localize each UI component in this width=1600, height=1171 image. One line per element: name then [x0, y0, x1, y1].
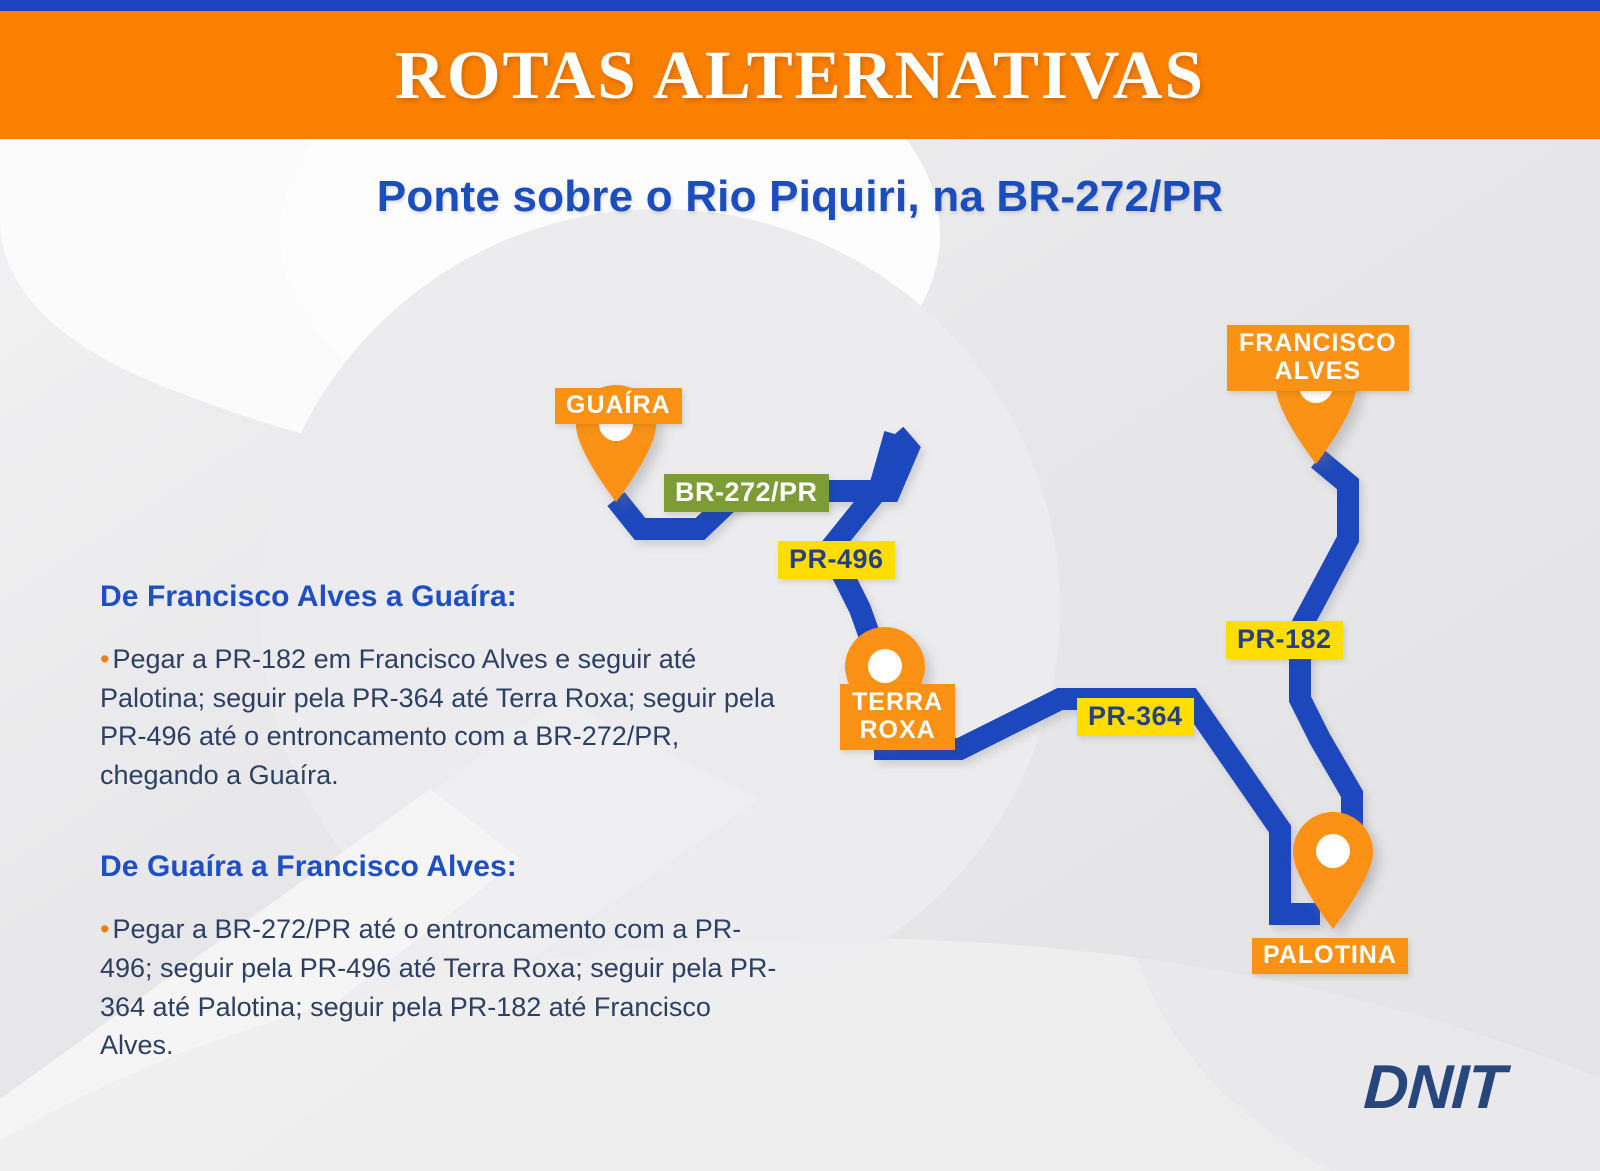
page-subtitle: Ponte sobre o Rio Piquiri, na BR-272/PR: [0, 172, 1600, 222]
section-body-text: Pegar a PR-182 em Francisco Alves e segu…: [100, 644, 775, 790]
section-heading-francisco-to-guaira: De Francisco Alves a Guaíra:: [100, 580, 790, 614]
city-label-line-2: ALVES: [1239, 357, 1397, 385]
section-body-text: Pegar a BR-272/PR até o entroncamento co…: [100, 914, 776, 1060]
routes-text-column: De Francisco Alves a Guaíra: •Pegar a PR…: [100, 580, 790, 1065]
city-label-francisco-alves: FRANCISCO ALVES: [1227, 325, 1409, 391]
city-label-line-2: ROXA: [852, 716, 943, 744]
city-label-line-1: TERRA: [852, 688, 943, 716]
bullet-icon: •: [100, 914, 109, 944]
page-title: ROTAS ALTERNATIVAS: [0, 11, 1600, 139]
section-heading-guaira-to-francisco: De Guaíra a Francisco Alves:: [100, 850, 790, 884]
dnit-logo: DNIT: [1362, 1052, 1506, 1123]
road-label-pr-364: PR-364: [1077, 698, 1194, 736]
bullet-icon: •: [100, 644, 109, 674]
city-label-guaira: GUAÍRA: [555, 388, 682, 424]
section-body-guaira-to-francisco: •Pegar a BR-272/PR até o entroncamento c…: [100, 910, 790, 1064]
top-blue-strip: [0, 0, 1600, 11]
city-label-palotina: PALOTINA: [1252, 938, 1408, 974]
section-body-francisco-to-guaira: •Pegar a PR-182 em Francisco Alves e seg…: [100, 640, 790, 794]
city-label-line-1: FRANCISCO: [1239, 329, 1397, 357]
road-label-pr-496: PR-496: [778, 541, 895, 579]
infographic-page: ROTAS ALTERNATIVAS Ponte sobre o Rio Piq…: [0, 0, 1600, 1171]
city-label-terra-roxa: TERRA ROXA: [840, 684, 955, 750]
road-label-pr-182: PR-182: [1226, 621, 1343, 659]
road-label-br-272-pr: BR-272/PR: [664, 474, 829, 512]
